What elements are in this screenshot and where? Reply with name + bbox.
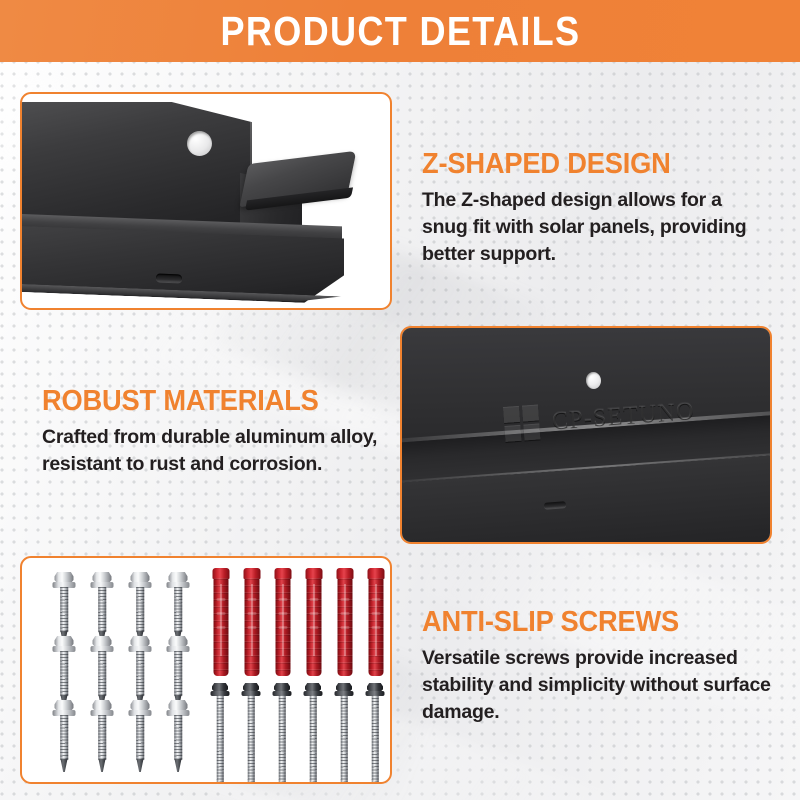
screw-threaded-shank (372, 695, 379, 784)
anchor-rib (247, 626, 256, 629)
feature-heading: ROBUST MATERIALS (42, 385, 366, 417)
screw-threaded-shank (217, 695, 224, 784)
anchor-rib (340, 598, 349, 601)
bracket-illustration (22, 94, 390, 308)
anchor-rib (340, 612, 349, 615)
brand-name: CP-SETUNO (551, 399, 695, 433)
feature-text-z-shaped-design: Z-SHAPED DESIGN The Z-shaped design allo… (422, 148, 772, 268)
bracket-slot (156, 274, 182, 283)
anchor-rib (340, 626, 349, 629)
screw-threaded-shank (136, 651, 144, 696)
anchor-rib (371, 598, 380, 601)
screw-threaded-shank (60, 715, 68, 760)
anchor-expansion-slot (220, 584, 222, 656)
feature-body: The Z-shaped design allows for a snug fi… (422, 187, 772, 268)
anchor-expansion-slot (344, 584, 346, 656)
screw-threaded-shank (174, 651, 182, 696)
infographic-page: PRODUCT DETAILS Z-SHAPED DESIGN The Z-sh… (0, 0, 800, 800)
bracket-mounting-hole (187, 131, 212, 156)
screw-threaded-shank (174, 587, 182, 632)
fasteners-illustration (22, 558, 390, 782)
anchor-rib (309, 598, 318, 601)
screw-threaded-shank (279, 695, 286, 784)
anchor-rib (216, 598, 225, 601)
screw-threaded-shank (174, 715, 182, 760)
anchor-rib (216, 612, 225, 615)
feature-heading: ANTI-SLIP SCREWS (422, 606, 756, 638)
feature-heading: Z-SHAPED DESIGN (422, 148, 751, 180)
anchor-rib (309, 612, 318, 615)
brand-window-logo-icon (503, 404, 540, 441)
screw-threaded-shank (98, 651, 106, 696)
screw-threaded-shank (98, 587, 106, 632)
feature-body: Crafted from durable aluminum alloy, res… (42, 424, 387, 478)
screw-threaded-shank (60, 651, 68, 696)
anchor-rib (309, 626, 318, 629)
feature-image-card-robust-materials: CP-SETUNO (400, 326, 772, 544)
screw-threaded-shank (341, 695, 348, 784)
anchor-expansion-slot (251, 584, 253, 656)
screw-threaded-shank (310, 695, 317, 784)
feature-text-robust-materials: ROBUST MATERIALS Crafted from durable al… (42, 385, 387, 478)
anchor-rib (278, 612, 287, 615)
anchor-rib (278, 598, 287, 601)
screw-threaded-shank (136, 715, 144, 760)
anchor-rib (247, 612, 256, 615)
page-title: PRODUCT DETAILS (220, 11, 580, 52)
anchor-expansion-slot (375, 584, 377, 656)
screw-drill-tip (137, 759, 144, 772)
screw-threaded-shank (60, 587, 68, 632)
anchor-expansion-slot (282, 584, 284, 656)
anchor-rib (247, 598, 256, 601)
feature-body: Versatile screws provide increased stabi… (422, 645, 777, 726)
screw-drill-tip (61, 759, 68, 772)
anchor-rib (216, 626, 225, 629)
screw-threaded-shank (98, 715, 106, 760)
screw-threaded-shank (136, 587, 144, 632)
bracket-vertical-plate (20, 102, 252, 228)
screw-drill-tip (99, 759, 106, 772)
feature-image-card-anti-slip-screws (20, 556, 392, 784)
screw-threaded-shank (248, 695, 255, 784)
anchor-expansion-slot (313, 584, 315, 656)
screw-drill-tip (175, 759, 182, 772)
anchor-rib (278, 626, 287, 629)
feature-text-anti-slip-screws: ANTI-SLIP SCREWS Versatile screws provid… (422, 606, 777, 726)
page-header-banner: PRODUCT DETAILS (0, 0, 800, 62)
anchor-rib (371, 626, 380, 629)
rail-illustration: CP-SETUNO (402, 328, 770, 542)
feature-image-card-z-shaped-design (20, 92, 392, 310)
anchor-rib (371, 612, 380, 615)
